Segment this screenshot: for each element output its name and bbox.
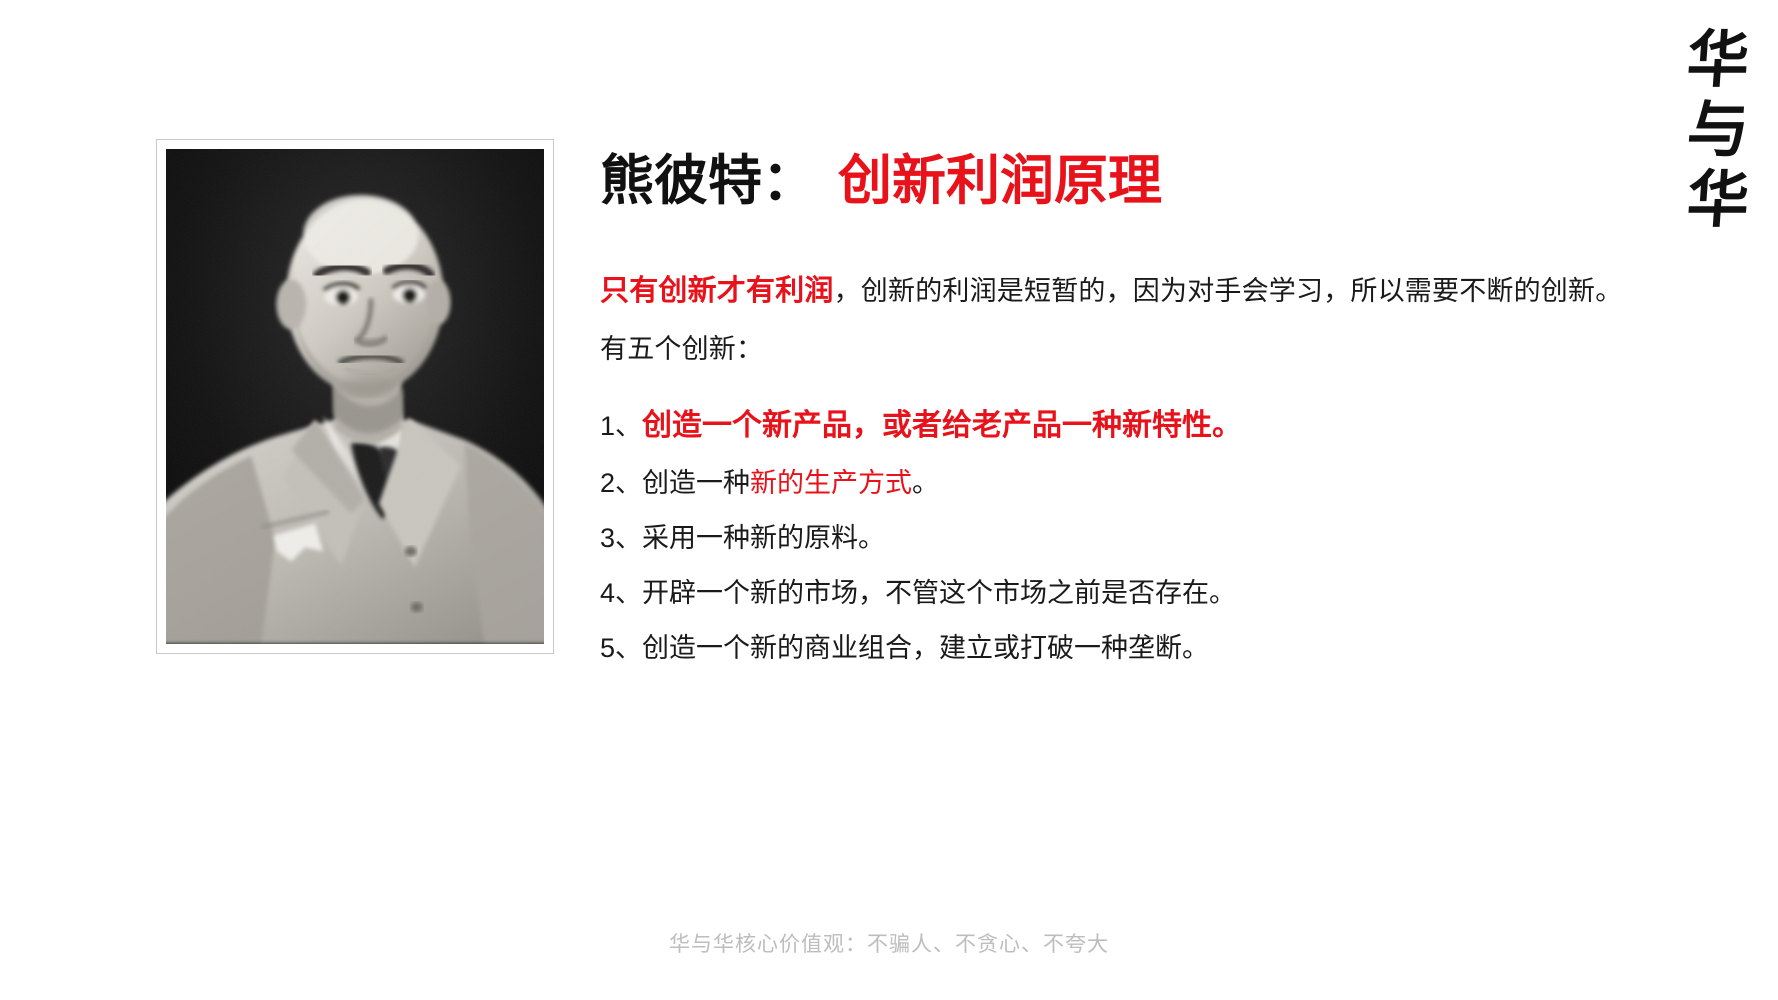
portrait-frame <box>156 139 554 654</box>
list-item-4-text: 开辟一个新的市场，不管这个市场之前是否存在。 <box>642 578 1236 608</box>
list-item-3: 3、采用一种新的原料。 <box>600 511 1640 566</box>
list-item-1: 1、创造一个新产品，或者给老产品一种新特性。 <box>600 396 1640 456</box>
list-item-2-pre: 创造一种 <box>642 468 750 498</box>
intro-paragraph: 只有创新才有利润，创新的利润是短暂的，因为对手会学习，所以需要不断的创新。有五个… <box>600 262 1640 378</box>
title-prefix: 熊彼特： <box>600 151 816 211</box>
list-item-2: 2、创造一种新的生产方式。 <box>600 456 1640 511</box>
list-item-2-number: 2、 <box>600 468 642 498</box>
slide-footer: 华与华核心价值观：不骗人、不贪心、不夸大 <box>0 928 1778 958</box>
intro-highlight: 只有创新才有利润 <box>600 275 834 307</box>
logo-char-1: 华 <box>1685 26 1752 96</box>
page-title: 熊彼特：创新利润原理 <box>600 150 1640 212</box>
list-item-5-text: 创造一个新的商业组合，建立或打破一种垄断。 <box>642 633 1209 663</box>
list-item-1-number: 1、 <box>600 411 642 441</box>
title-accent: 创新利润原理 <box>838 151 1162 211</box>
list-item-3-text: 采用一种新的原料。 <box>642 523 885 553</box>
list-item-1-text: 创造一个新产品，或者给老产品一种新特性。 <box>642 409 1242 442</box>
brand-logo: 华 与 华 <box>1672 26 1764 246</box>
list-item-5-number: 5、 <box>600 633 642 663</box>
logo-char-3: 华 <box>1685 166 1752 236</box>
innovation-list: 1、创造一个新产品，或者给老产品一种新特性。 2、创造一种新的生产方式。 3、采… <box>600 396 1640 676</box>
list-item-4: 4、开辟一个新的市场，不管这个市场之前是否存在。 <box>600 566 1640 621</box>
list-item-5: 5、创造一个新的商业组合，建立或打破一种垄断。 <box>600 621 1640 676</box>
logo-char-2: 与 <box>1685 96 1752 166</box>
list-item-2-highlight: 新的生产方式 <box>750 468 912 498</box>
list-item-2-post: 。 <box>912 468 939 498</box>
list-item-4-number: 4、 <box>600 578 642 608</box>
slide-content: 熊彼特：创新利润原理 只有创新才有利润，创新的利润是短暂的，因为对手会学习，所以… <box>600 150 1640 676</box>
portrait-photo <box>166 149 544 644</box>
list-item-3-number: 3、 <box>600 523 642 553</box>
